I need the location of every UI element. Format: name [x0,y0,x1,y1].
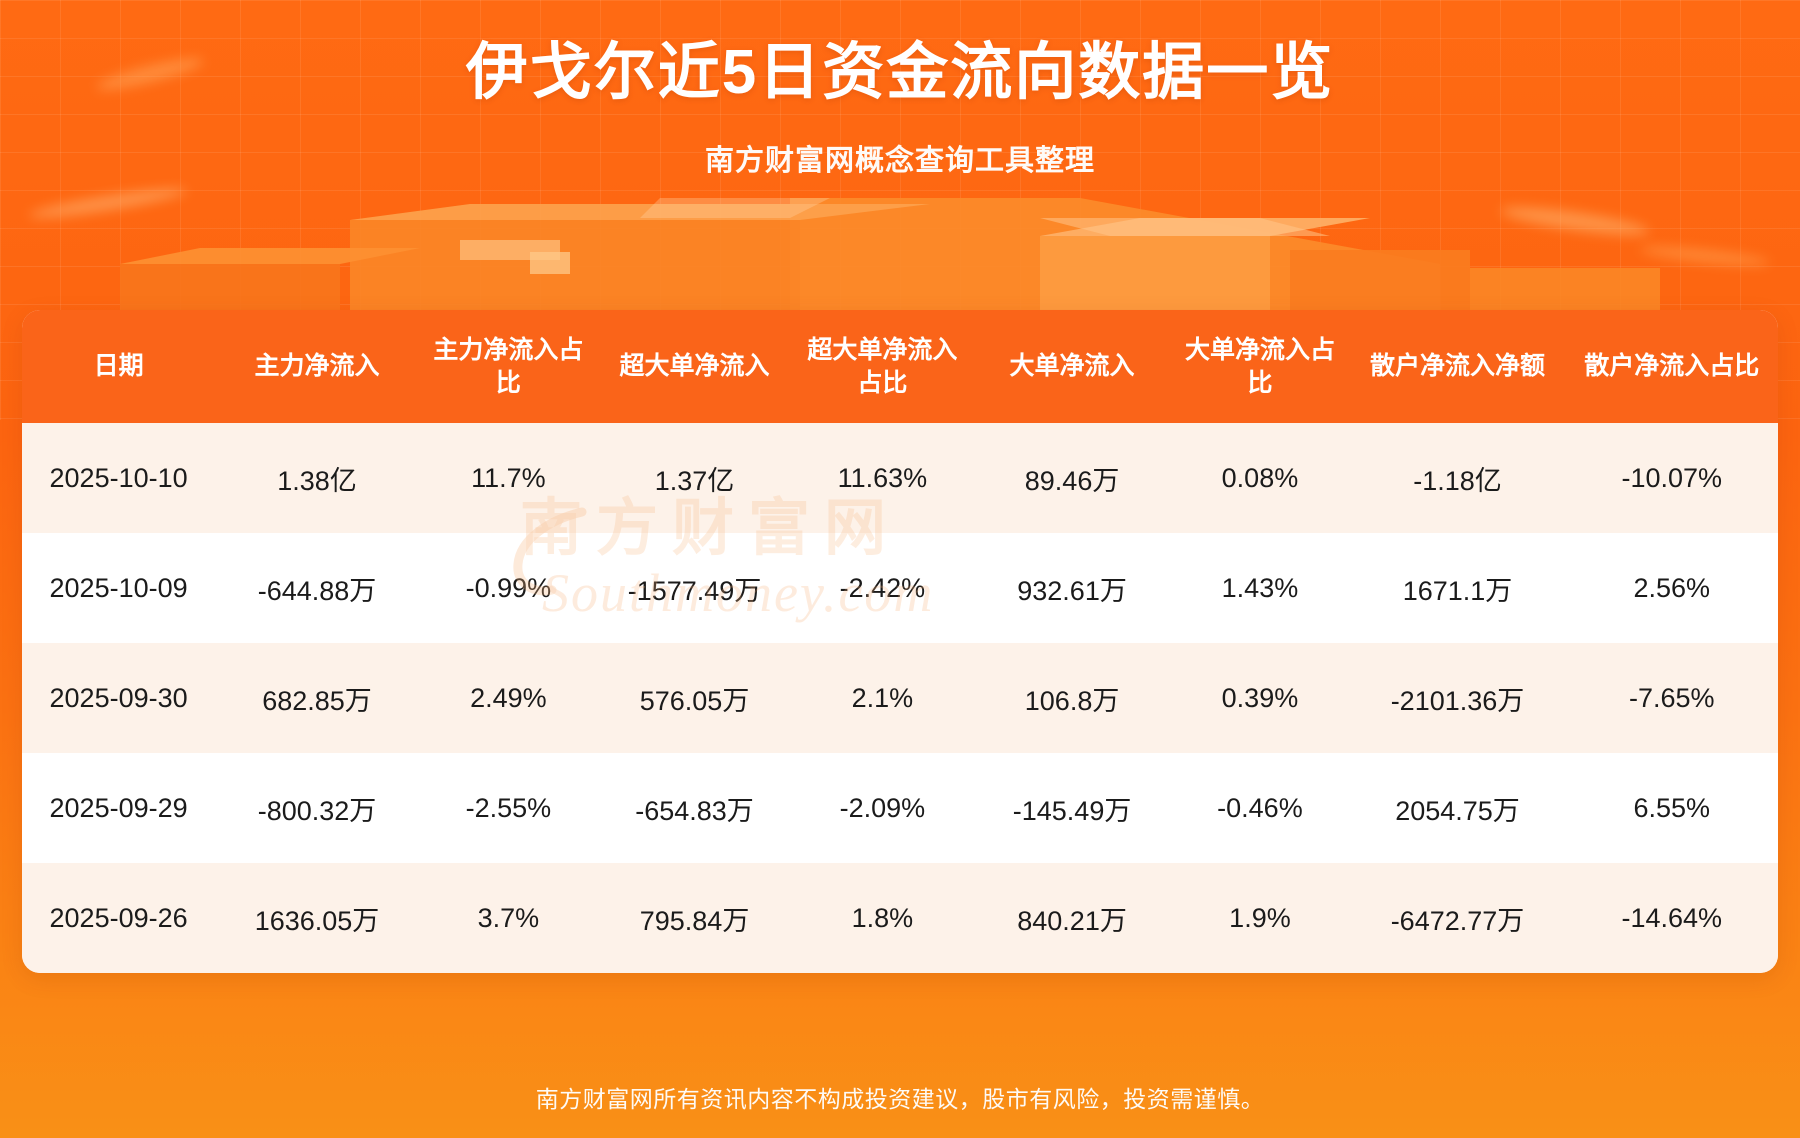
column-header-large-net-inflow[interactable]: 大单净流入 [974,310,1171,423]
data-table-card: 日期 主力净流入 主力净流入占比 超大单净流入 超大单净流入占比 大单净流入 大… [22,310,1778,973]
light-streak-decoration [1499,202,1650,241]
hero-section: 伊戈尔近5日资金流向数据一览 南方财富网概念查询工具整理 [0,0,1800,179]
disclaimer-text: 南方财富网所有资讯内容不构成投资建议，股市有风险，投资需谨慎。 [536,1080,1265,1114]
cell-large-net-inflow-ratio: 0.39% [1170,643,1349,753]
cell-main-net-inflow: 682.85万 [215,643,419,753]
column-header-xl-net-inflow[interactable]: 超大单净流入 [598,310,791,423]
column-header-main-net-inflow-ratio[interactable]: 主力净流入占比 [419,310,598,423]
light-streak-decoration [28,184,188,223]
cell-xl-net-inflow-ratio: -2.09% [791,753,974,863]
cell-xl-net-inflow: 1.37亿 [598,423,791,533]
column-header-date[interactable]: 日期 [22,310,215,423]
table-row: 2025-10-10 1.38亿 11.7% 1.37亿 11.63% 89.4… [22,423,1778,533]
cell-large-net-inflow: -145.49万 [974,753,1171,863]
cell-xl-net-inflow-ratio: 1.8% [791,863,974,973]
cell-main-net-inflow: 1636.05万 [215,863,419,973]
cell-date: 2025-09-30 [22,643,215,753]
cell-main-net-inflow: -644.88万 [215,533,419,643]
cell-large-net-inflow: 89.46万 [974,423,1171,533]
cell-main-net-inflow-ratio: 2.49% [419,643,598,753]
table-row: 2025-09-30 682.85万 2.49% 576.05万 2.1% 10… [22,643,1778,753]
cell-large-net-inflow: 840.21万 [974,863,1171,973]
column-header-large-net-inflow-ratio[interactable]: 大单净流入占比 [1170,310,1349,423]
cell-xl-net-inflow-ratio: 11.63% [791,423,974,533]
cell-date: 2025-09-26 [22,863,215,973]
column-header-main-net-inflow[interactable]: 主力净流入 [215,310,419,423]
cell-retail-net-ratio: -10.07% [1565,423,1778,533]
cell-large-net-inflow: 106.8万 [974,643,1171,753]
cell-main-net-inflow-ratio: 11.7% [419,423,598,533]
page-title: 伊戈尔近5日资金流向数据一览 [0,36,1800,109]
cell-retail-net-amount: -1.18亿 [1350,423,1566,533]
cell-xl-net-inflow: -654.83万 [598,753,791,863]
cell-main-net-inflow: 1.38亿 [215,423,419,533]
table-row: 2025-09-29 -800.32万 -2.55% -654.83万 -2.0… [22,753,1778,863]
cell-xl-net-inflow: 576.05万 [598,643,791,753]
cell-date: 2025-09-29 [22,753,215,863]
cell-main-net-inflow-ratio: 3.7% [419,863,598,973]
cell-large-net-inflow-ratio: 1.43% [1170,533,1349,643]
cell-main-net-inflow-ratio: -0.99% [419,533,598,643]
cell-retail-net-ratio: 6.55% [1565,753,1778,863]
cell-retail-net-amount: 2054.75万 [1350,753,1566,863]
cell-xl-net-inflow: -1577.49万 [598,533,791,643]
cell-date: 2025-10-09 [22,533,215,643]
footer-bar: 南方财富网所有资讯内容不构成投资建议，股市有风险，投资需谨慎。 [0,1056,1800,1138]
cell-retail-net-ratio: 2.56% [1565,533,1778,643]
cell-retail-net-ratio: -7.65% [1565,643,1778,753]
cell-large-net-inflow-ratio: -0.46% [1170,753,1349,863]
table-header-row: 日期 主力净流入 主力净流入占比 超大单净流入 超大单净流入占比 大单净流入 大… [22,310,1778,423]
cell-retail-net-amount: -6472.77万 [1350,863,1566,973]
table-row: 2025-10-09 -644.88万 -0.99% -1577.49万 -2.… [22,533,1778,643]
cell-main-net-inflow-ratio: -2.55% [419,753,598,863]
table-row: 2025-09-26 1636.05万 3.7% 795.84万 1.8% 84… [22,863,1778,973]
cell-large-net-inflow: 932.61万 [974,533,1171,643]
cell-retail-net-ratio: -14.64% [1565,863,1778,973]
poster-root: 伊戈尔近5日资金流向数据一览 南方财富网概念查询工具整理 日期 主力净流入 主力… [0,0,1800,1138]
light-streak-decoration [1640,243,1771,269]
cell-main-net-inflow: -800.32万 [215,753,419,863]
fund-flow-table: 日期 主力净流入 主力净流入占比 超大单净流入 超大单净流入占比 大单净流入 大… [22,310,1778,973]
cell-retail-net-amount: -2101.36万 [1350,643,1566,753]
cell-large-net-inflow-ratio: 0.08% [1170,423,1349,533]
column-header-xl-net-inflow-ratio[interactable]: 超大单净流入占比 [791,310,974,423]
cell-xl-net-inflow-ratio: -2.42% [791,533,974,643]
cell-xl-net-inflow: 795.84万 [598,863,791,973]
cell-retail-net-amount: 1671.1万 [1350,533,1566,643]
table-header: 日期 主力净流入 主力净流入占比 超大单净流入 超大单净流入占比 大单净流入 大… [22,310,1778,423]
column-header-retail-net-ratio[interactable]: 散户净流入占比 [1565,310,1778,423]
page-subtitle: 南方财富网概念查询工具整理 [0,137,1800,179]
table-body: 2025-10-10 1.38亿 11.7% 1.37亿 11.63% 89.4… [22,423,1778,973]
column-header-retail-net-amount[interactable]: 散户净流入净额 [1350,310,1566,423]
cell-xl-net-inflow-ratio: 2.1% [791,643,974,753]
cell-large-net-inflow-ratio: 1.9% [1170,863,1349,973]
cell-date: 2025-10-10 [22,423,215,533]
